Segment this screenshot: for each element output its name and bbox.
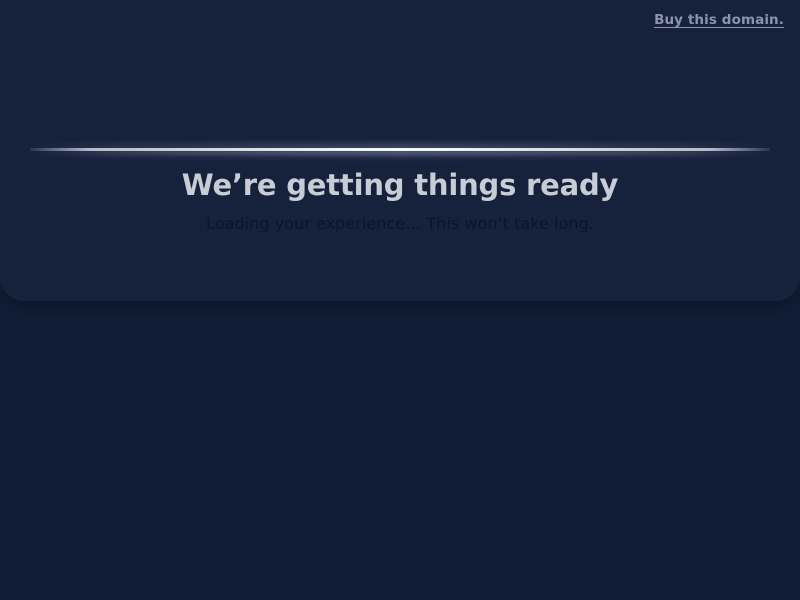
hero-panel: We’re getting things ready Loading your … xyxy=(0,0,800,301)
page-title: We’re getting things ready xyxy=(0,168,800,202)
buy-domain-link-container: Buy this domain. xyxy=(654,9,784,28)
progress-line-undershadow xyxy=(30,151,770,155)
loading-status-text: Loading your experience… This won’t take… xyxy=(0,214,800,233)
progress-line-core xyxy=(30,148,770,151)
buy-domain-link[interactable]: Buy this domain. xyxy=(654,12,784,28)
glowing-progress-line xyxy=(30,140,770,160)
hero-text-block: We’re getting things ready Loading your … xyxy=(0,168,800,233)
